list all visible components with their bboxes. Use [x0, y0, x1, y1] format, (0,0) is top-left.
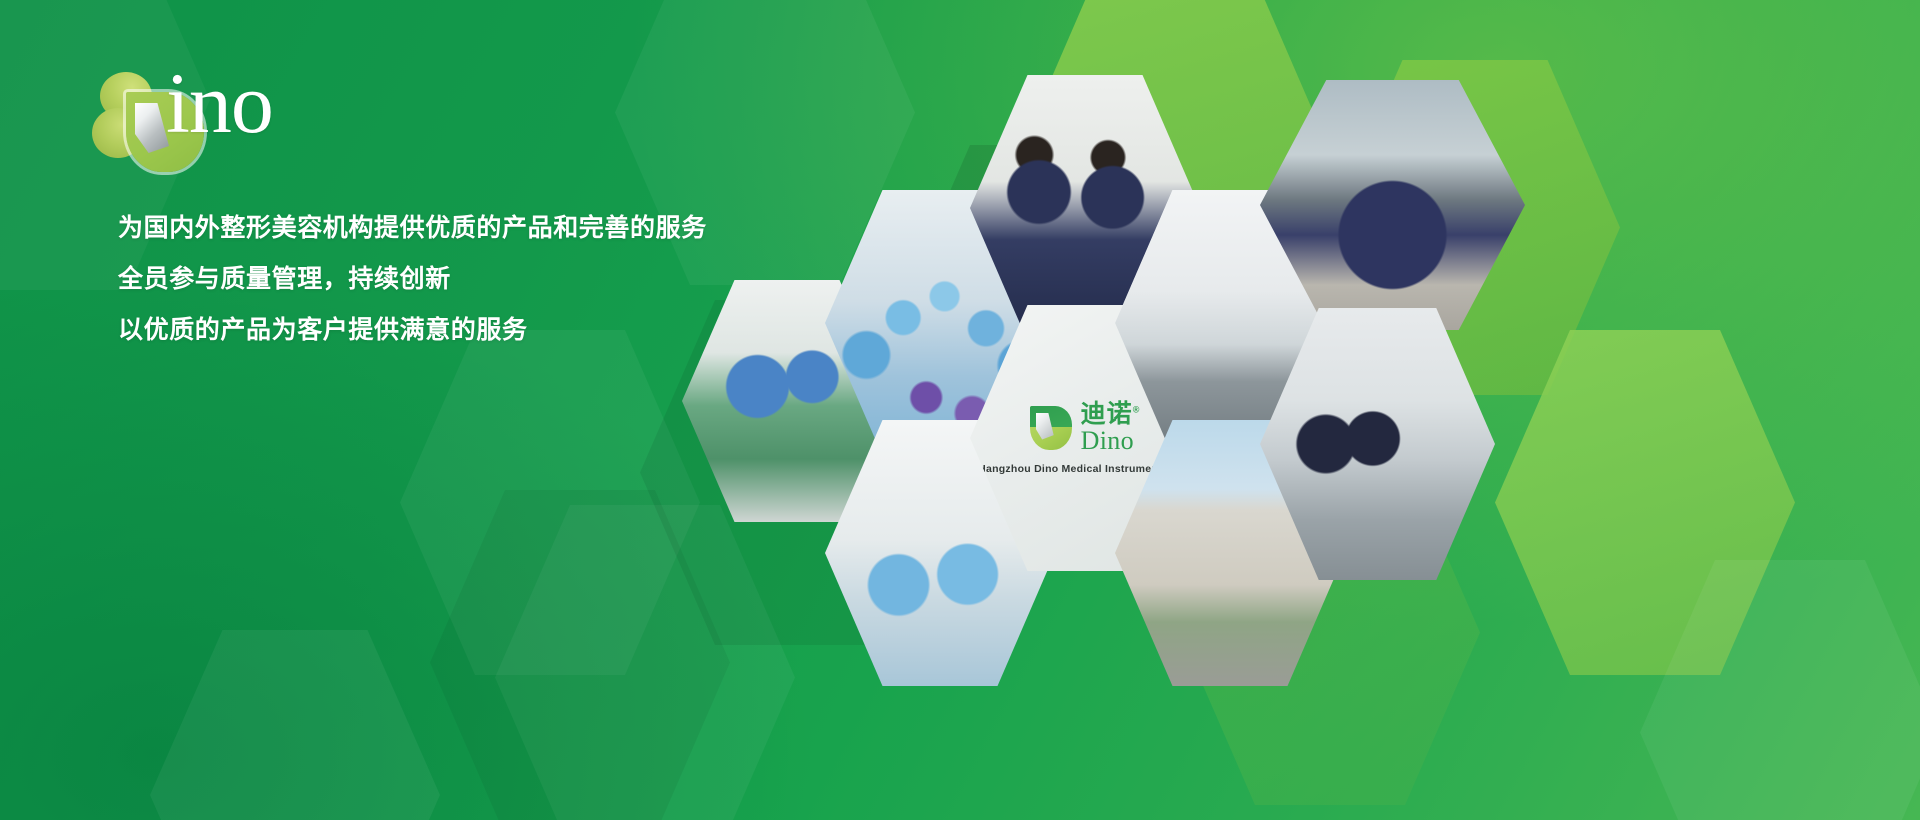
brand-lockup: 迪诺® Dino — [1030, 402, 1141, 454]
company-banner: ino 为国内外整形美容机构提供优质的产品和完善的服务 全员参与质量管理，持续创… — [0, 0, 1920, 820]
dino-logo: ino — [92, 72, 347, 172]
tagline-list: 为国内外整形美容机构提供优质的产品和完善的服务 全员参与质量管理，持续创新 以优… — [118, 216, 707, 343]
registered-mark: ® — [1133, 404, 1141, 414]
hexagon-photo-cluster: Green industrial machine with blue ducti… — [640, 90, 1920, 650]
brand-leaf-icon — [1030, 406, 1072, 450]
tagline-3: 以优质的产品为客户提供满意的服务 — [118, 318, 707, 343]
brand-name-cn: 迪诺® — [1081, 402, 1141, 427]
tagline-1: 为国内外整形美容机构提供优质的产品和完善的服务 — [118, 216, 707, 241]
logo-wordmark: ino — [166, 60, 273, 146]
brand-name-en: Dino — [1081, 428, 1134, 454]
tagline-2: 全员参与质量管理，持续创新 — [118, 267, 707, 292]
